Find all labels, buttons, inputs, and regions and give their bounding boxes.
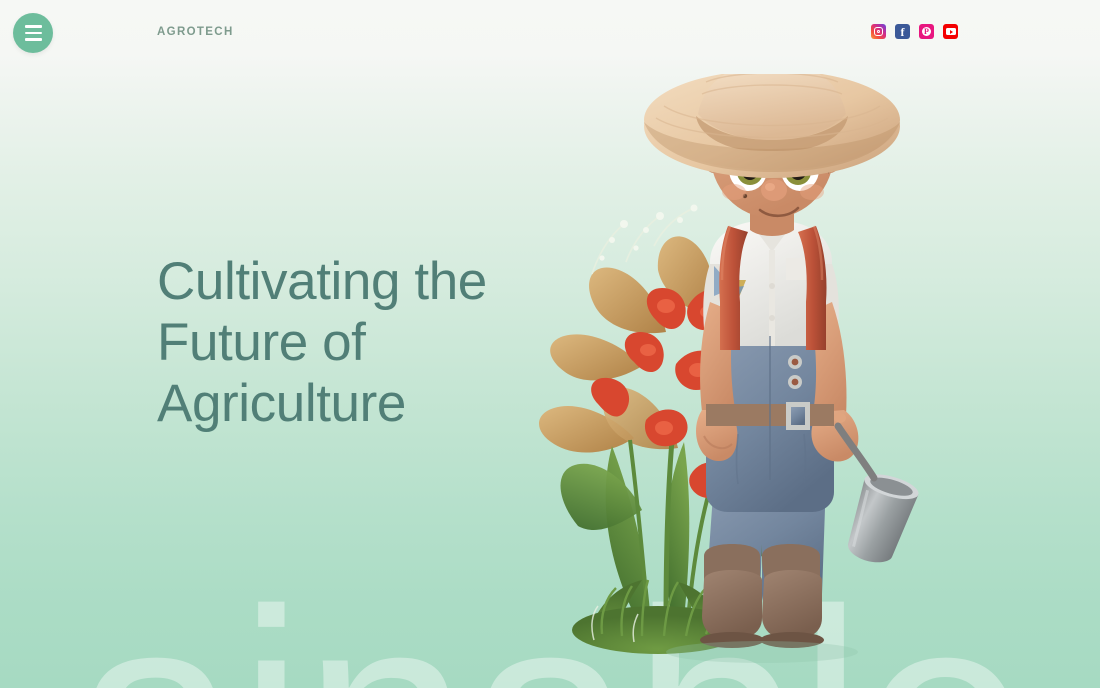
hamburger-menu-button[interactable] (13, 13, 53, 53)
youtube-icon[interactable] (943, 24, 958, 39)
background-watermark-text: ainable (73, 598, 1027, 688)
instagram-lens (877, 30, 881, 34)
farmer-boy-illustration (538, 74, 1008, 688)
instagram-icon[interactable] (871, 24, 886, 39)
hamburger-bar (25, 38, 42, 41)
page-title: Cultivating the Future of Agriculture (157, 252, 487, 435)
facebook-icon[interactable]: f (895, 24, 910, 39)
pinterest-letter: P (924, 28, 929, 36)
headline-line-3: Agriculture (157, 374, 487, 435)
youtube-glyph (946, 28, 956, 35)
pinterest-icon[interactable]: P (919, 24, 934, 39)
headline-line-1: Cultivating the (157, 252, 487, 313)
hamburger-bar (25, 25, 42, 28)
pinterest-glyph: P (922, 27, 932, 37)
brand-logo-text[interactable]: AGROTECH (157, 26, 234, 38)
instagram-glyph (874, 27, 883, 36)
hamburger-bar (25, 32, 42, 35)
social-links: f P (871, 24, 958, 39)
youtube-play-triangle (950, 30, 953, 34)
headline-line-2: Future of (157, 313, 487, 374)
hero-stage: ainable (0, 0, 1100, 688)
facebook-glyph: f (901, 26, 905, 38)
site-header: AGROTECH f P (0, 0, 1100, 66)
